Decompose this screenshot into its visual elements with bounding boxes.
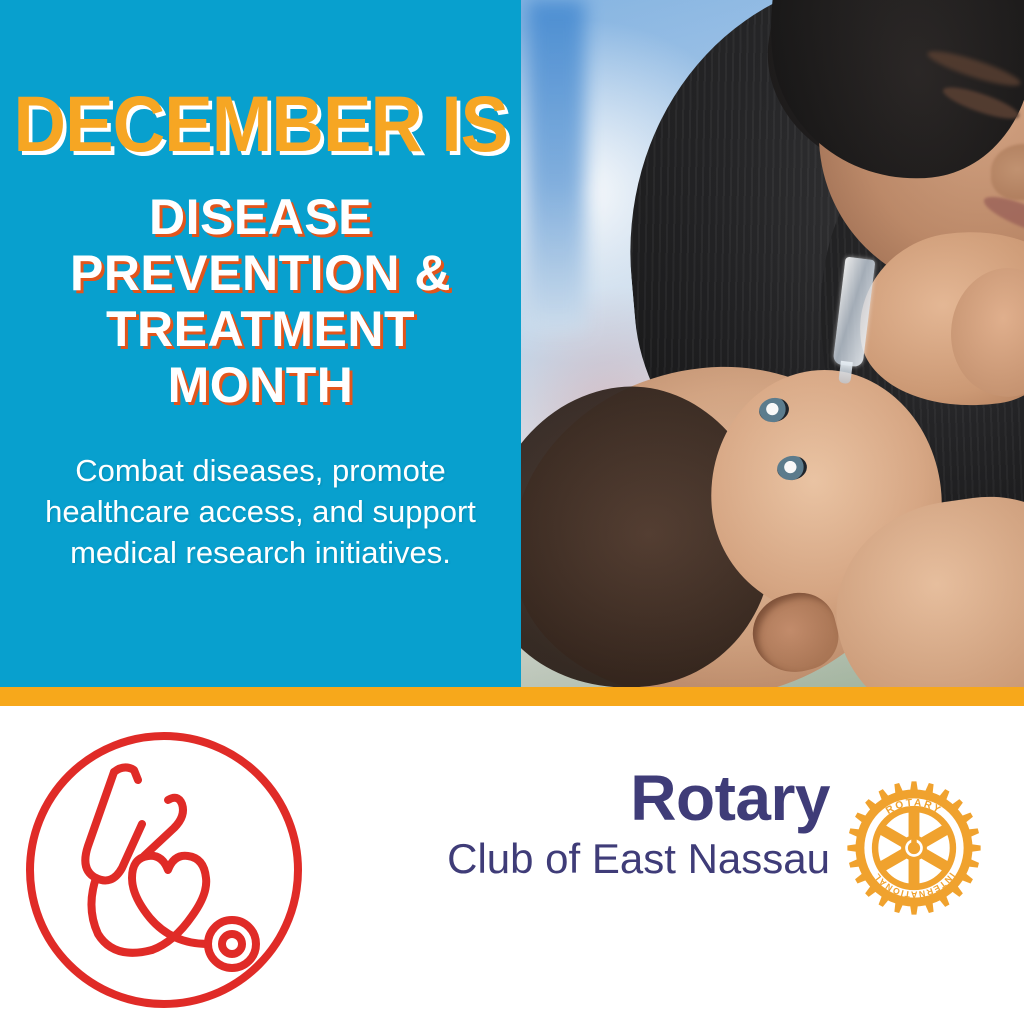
footer-section: Rotary Club of East Nassau: [0, 706, 1024, 1024]
banner-section: DECEMBER IS DISEASE PREVENTION & TREATME…: [0, 0, 1024, 687]
stethoscope-heart-icon: [22, 728, 306, 1012]
subtext-paragraph: Combat diseases, promote healthcare acce…: [26, 451, 496, 574]
rotary-wordmark: Rotary: [630, 766, 830, 830]
poster-canvas: DECEMBER IS DISEASE PREVENTION & TREATME…: [0, 0, 1024, 1024]
rotary-hub-keyway: [911, 836, 916, 844]
headline-line-3: TREATMENT: [70, 301, 451, 357]
orange-divider-bar: [0, 687, 1024, 706]
stethoscope-right-tube: [144, 798, 183, 856]
kicker-heading: DECEMBER IS: [13, 86, 508, 161]
headline-line-1: DISEASE: [70, 189, 451, 245]
stethoscope-heart-curve: [132, 856, 208, 950]
stethoscope-left-earpiece: [114, 767, 138, 780]
main-headline: DISEASE PREVENTION & TREATMENT MONTH: [70, 189, 451, 413]
rotary-wheel-logo: ROTARY INTERNATIONAL: [846, 780, 982, 916]
rotary-brand-text: Rotary Club of East Nassau: [447, 764, 830, 882]
photo-window-blur: [527, 0, 585, 330]
rotary-brand-lockup: Rotary Club of East Nassau: [447, 764, 982, 916]
stethoscope-chestpiece-inner: [222, 934, 242, 954]
headline-line-2: PREVENTION &: [70, 245, 451, 301]
headline-line-4: MONTH: [70, 357, 451, 413]
rotary-club-name: Club of East Nassau: [447, 836, 830, 882]
banner-photo: [521, 0, 1024, 687]
banner-text-panel: DECEMBER IS DISEASE PREVENTION & TREATME…: [0, 0, 521, 687]
stethoscope-chestpiece-outer: [208, 920, 256, 968]
